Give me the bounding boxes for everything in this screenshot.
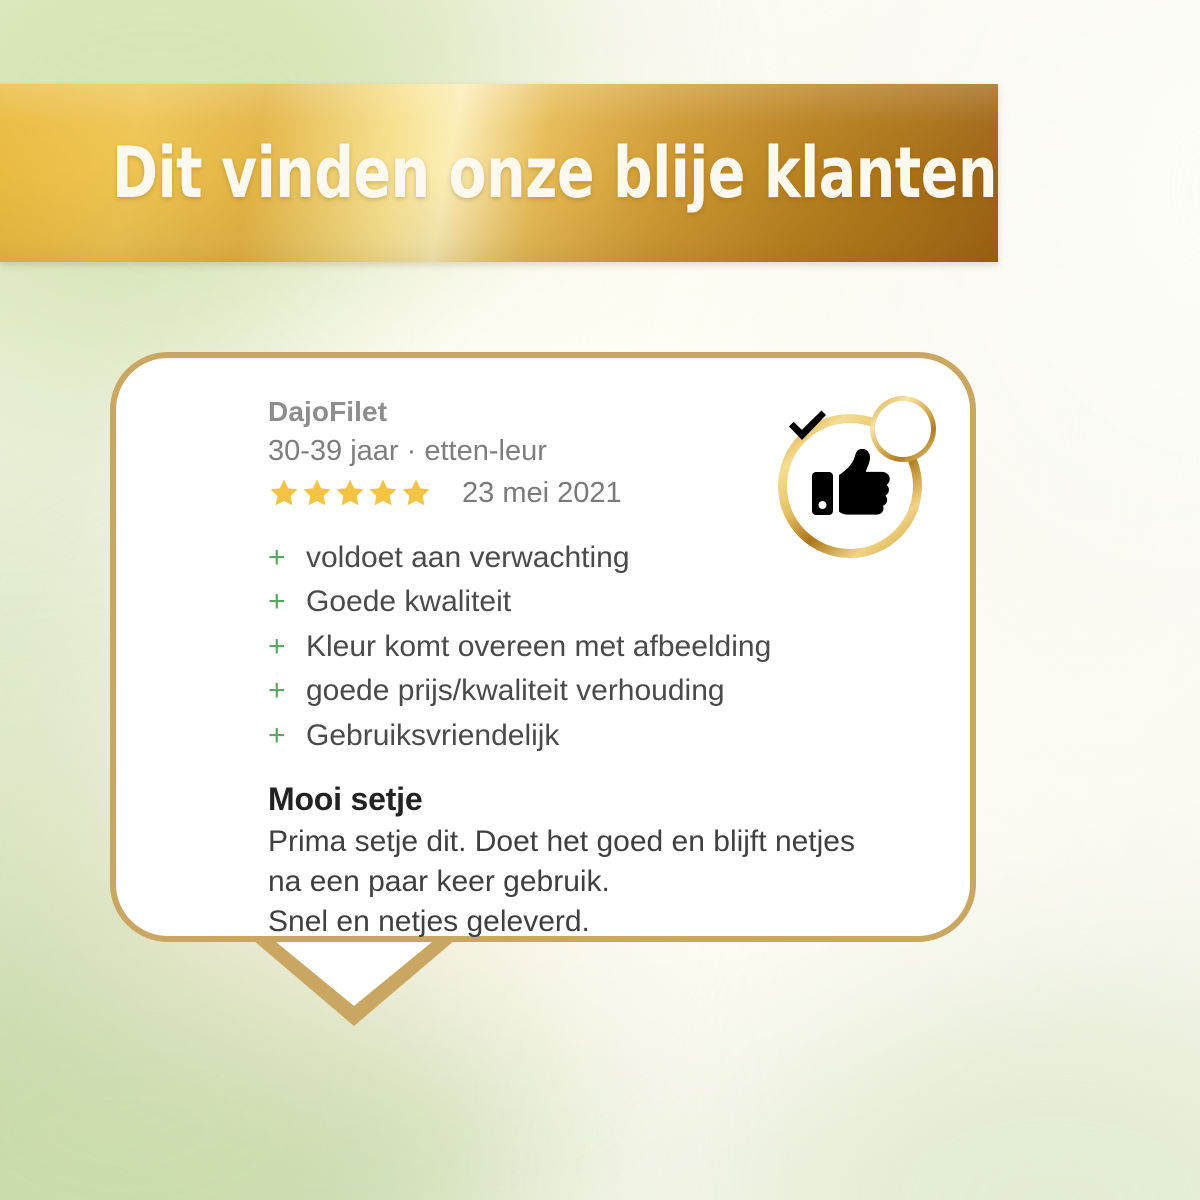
list-item: + Goede kwaliteit <box>268 586 908 618</box>
header-banner: Dit vinden onze blije klanten <box>0 84 998 262</box>
pro-label: Kleur komt overeen met afbeelding <box>306 631 771 663</box>
list-item: + Kleur komt overeen met afbeelding <box>268 631 908 663</box>
plus-icon: + <box>268 587 306 617</box>
review-body-line: Prima setje dit. Doet het goed en blijft… <box>268 822 908 862</box>
checkmark-icon <box>785 408 829 446</box>
plus-icon: + <box>268 721 306 751</box>
star-icon <box>400 477 432 509</box>
plus-icon: + <box>268 632 306 662</box>
verified-badge <box>776 396 936 556</box>
review-body-line: Snel en netjes geleverd. <box>268 902 908 942</box>
star-icon <box>268 477 300 509</box>
poster-canvas: Dit vinden onze blije klanten DajoFilet … <box>0 0 1200 1200</box>
review-headline: Mooi setje <box>268 781 908 818</box>
pro-label: goede prijs/kwaliteit verhouding <box>306 675 725 707</box>
pros-list: + voldoet aan verwachting + Goede kwalit… <box>268 542 908 752</box>
star-rating <box>268 477 432 509</box>
review-speech-bubble: DajoFilet 30-39 jaar · etten-leur <box>110 352 976 942</box>
star-icon <box>367 477 399 509</box>
list-item: + Gebruiksvriendelijk <box>268 720 908 752</box>
pro-label: Gebruiksvriendelijk <box>306 720 559 752</box>
plus-icon: + <box>268 543 306 573</box>
review-body: Prima setje dit. Doet het goed en blijft… <box>268 822 908 942</box>
page-title: Dit vinden onze blije klanten <box>112 138 997 208</box>
list-item: + goede prijs/kwaliteit verhouding <box>268 675 908 707</box>
verified-check-ring <box>870 396 936 462</box>
star-icon <box>301 477 333 509</box>
star-icon <box>334 477 366 509</box>
pro-label: Goede kwaliteit <box>306 586 511 618</box>
pro-label: voldoet aan verwachting <box>306 542 630 574</box>
review-body-line: na een paar keer gebruik. <box>268 862 908 902</box>
thumbs-up-icon <box>812 448 892 520</box>
review-date: 23 mei 2021 <box>462 477 622 510</box>
plus-icon: + <box>268 676 306 706</box>
